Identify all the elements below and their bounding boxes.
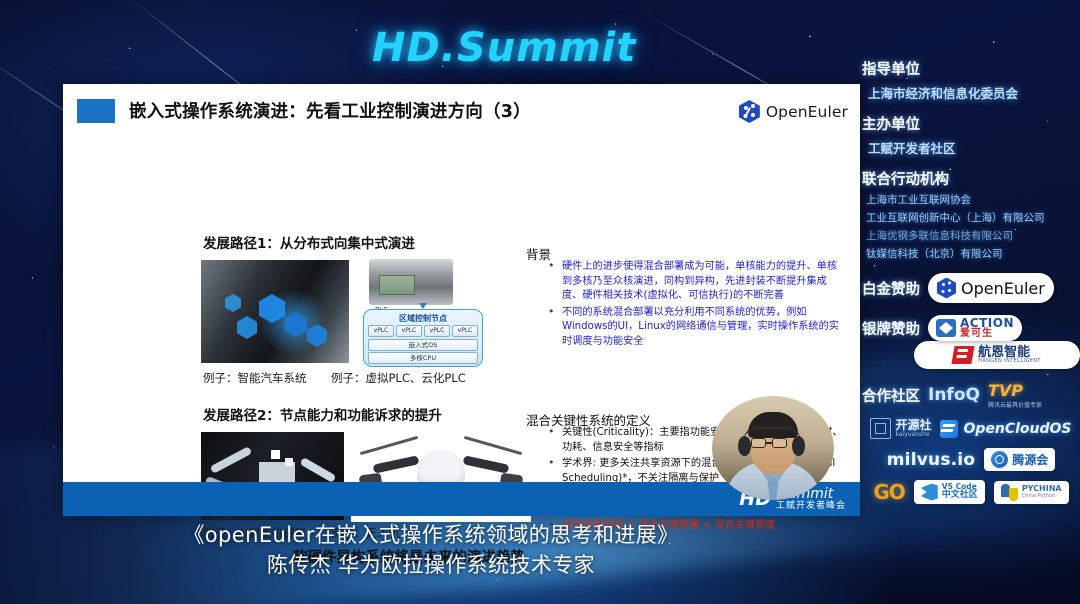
community-logo-tvp-sub: 腾讯云最具价值专家 (988, 400, 1042, 409)
joint-organization: 钛媒信科技（北京）有限公司 (866, 246, 1080, 261)
kaiyuanshe-cn: 开源社 (895, 419, 931, 432)
background-bullet-list: 硬件上的进步使得混合部署成为可能，单核能力的提升、单核到多核乃至众核演进，同构到… (546, 260, 846, 351)
pychina-sub: China Python (1022, 494, 1062, 499)
vscode-mark-icon (921, 484, 938, 501)
background-bullet: 硬件上的进步使得混合部署成为可能，单核能力的提升、单核到多核乃至众核演进，同构到… (546, 260, 846, 304)
glasses-lens-icon (751, 438, 766, 448)
community-logo-go: GO (873, 480, 904, 504)
hd-summit-logo: HD.Summit (372, 22, 644, 74)
vplc-block: vPLC (396, 325, 422, 337)
joint-organization: 上海优钢多联信息科技有限公司 (866, 228, 1080, 243)
glasses-bridge-icon (766, 442, 772, 444)
community-logo-row: GO VS Code 中文社区 PYCHINA China Python (862, 480, 1080, 504)
background-bullet: 不同的系统混合部署以充分利用不同系统的优势，例如Windows的UI，Linux… (546, 306, 846, 350)
platinum-heading: 白金赞助 (862, 278, 920, 299)
plc-device-photo (369, 259, 453, 305)
session-title: 《openEuler在嵌入式操作系统领域的思考和进展》 (0, 520, 862, 550)
openeuler-wordmark: OpenEuler (766, 103, 848, 121)
video-frame: HD.Summit 嵌入式操作系统演进：先看工业控制演进方向（3） OpenEu… (0, 0, 1080, 604)
sponsor-logo-action: ACTION 爱可生 (928, 315, 1022, 341)
community-logo-infoq: InfoQ (928, 385, 980, 405)
joint-organization: 工业互联网创新中心（上海）有限公司 (866, 210, 1080, 225)
hangen-mark-icon (952, 346, 975, 364)
openeuler-wordmark: OpenEuler (961, 279, 1045, 298)
hangen-logo-en: HANGEN INTELLIGENT (978, 359, 1041, 364)
pychina-mark-icon (1001, 484, 1018, 501)
path1-heading: 发展路径1：从分布式向集中式演进 (203, 232, 415, 252)
plc-layer-os: 嵌入式OS (368, 339, 478, 351)
joint-heading: 联合行动机构 (862, 168, 1080, 189)
host-organization: 工赋开发者社区 (868, 138, 1080, 157)
speaker-webcam-overlay[interactable] (712, 396, 834, 500)
path2-heading: 发展路径2：节点能力和功能诉求的提升 (203, 404, 442, 424)
hangen-logo-cn: 航恩智能 (978, 346, 1041, 360)
vscode-cn: 中文社区 (942, 491, 978, 500)
headset-earcup-icon (792, 436, 805, 456)
kaiyuanshe-en: kaiyuanshe (895, 432, 931, 438)
platinum-sponsor-row: 白金赞助 OpenEuler (862, 273, 1080, 303)
community-logo-row: 开源社 kaiyuanshe OpenCloudOS (862, 418, 1080, 439)
vplc-block: vPLC (368, 325, 394, 337)
session-speaker: 陈传杰 华为欧拉操作系统技术专家 (0, 550, 862, 580)
headset-earcup-icon (738, 436, 751, 456)
joint-organization: 上海市工业互联网协会 (866, 192, 1080, 207)
community-logo-opencloudos: OpenCloudOS (940, 420, 1071, 438)
slide-title-bar: 嵌入式操作系统演进：先看工业控制演进方向（3） (77, 98, 847, 123)
plc-layer-cpu: 多核CPU (368, 352, 478, 364)
openeuler-mark-icon (937, 278, 956, 299)
vplc-block: vPLC (452, 325, 478, 337)
footer-cn-text: 工赋开发者峰会 (776, 502, 846, 511)
title-accent-square (77, 99, 115, 123)
brand-logo-text: HD.Summit (372, 25, 636, 71)
smart-car-photo (201, 260, 349, 363)
glasses-lens-icon (772, 438, 787, 448)
sponsor-sidebar: 指导单位 上海市经济和信息化委员会 主办单位 工赋开发者社区 联合行动机构 上海… (862, 58, 1080, 510)
opencloudos-mark-icon (940, 420, 958, 438)
slide-title: 嵌入式操作系统演进：先看工业控制演进方向（3） (129, 98, 531, 123)
silver-heading: 银牌赞助 (862, 318, 920, 339)
silver-sponsor-row: 银牌赞助 ACTION 爱可生 (862, 315, 1080, 341)
plc-diagram-title: 区域控制节点 (367, 313, 479, 324)
community-row: 合作社区 InfoQ TVP 腾讯云最具价值专家 (862, 381, 1080, 409)
session-caption: 《openEuler在嵌入式操作系统领域的思考和进展》 陈传杰 华为欧拉操作系统… (0, 520, 862, 580)
action-logo-cn: 爱可生 (960, 329, 1014, 339)
community-logo-kaiyuanshe: 开源社 kaiyuanshe (870, 418, 931, 439)
vplc-row: vPLC vPLC vPLC vPLC (368, 325, 478, 337)
vplc-block: vPLC (424, 325, 450, 337)
action-mark-icon (936, 319, 956, 337)
community-logo-pychina: PYCHINA China Python (994, 481, 1069, 504)
caption-smart-car: 例子：智能汽车系统 (203, 370, 307, 386)
sponsor-logo-hangen: 航恩智能 HANGEN INTELLIGENT (914, 341, 1080, 369)
openeuler-logo: OpenEuler (739, 100, 848, 123)
community-heading: 合作社区 (862, 385, 920, 406)
opencloudos-wordmark: OpenCloudOS (963, 421, 1071, 437)
plc-architecture-diagram: 区域控制节点 vPLC vPLC vPLC vPLC 嵌入式OS 多核CPU (363, 309, 483, 367)
kaiyuanshe-mark-icon (870, 418, 891, 439)
openeuler-mark-icon (739, 100, 760, 123)
guidance-heading: 指导单位 (862, 58, 1080, 79)
community-logo-row: milvus.io 腾源会 (862, 448, 1080, 471)
tengyuanhui-cn: 腾源会 (1012, 451, 1048, 468)
community-logo-vscode: VS Code 中文社区 (914, 480, 985, 503)
caption-plc: 例子：虚拟PLC、云化PLC (331, 370, 466, 386)
guidance-organization: 上海市经济和信息化委员会 (868, 83, 1080, 102)
community-logo-grid: 开源社 kaiyuanshe OpenCloudOS milvus.io 腾源会… (862, 418, 1080, 504)
community-logo-tvp: TVP (988, 381, 1023, 400)
community-logo-milvus: milvus.io (887, 450, 975, 470)
tengyuanhui-mark-icon (991, 451, 1008, 468)
sponsor-logo-openeuler: OpenEuler (928, 273, 1054, 303)
community-logo-tengyuanhui: 腾源会 (984, 448, 1055, 471)
host-heading: 主办单位 (862, 113, 1080, 134)
